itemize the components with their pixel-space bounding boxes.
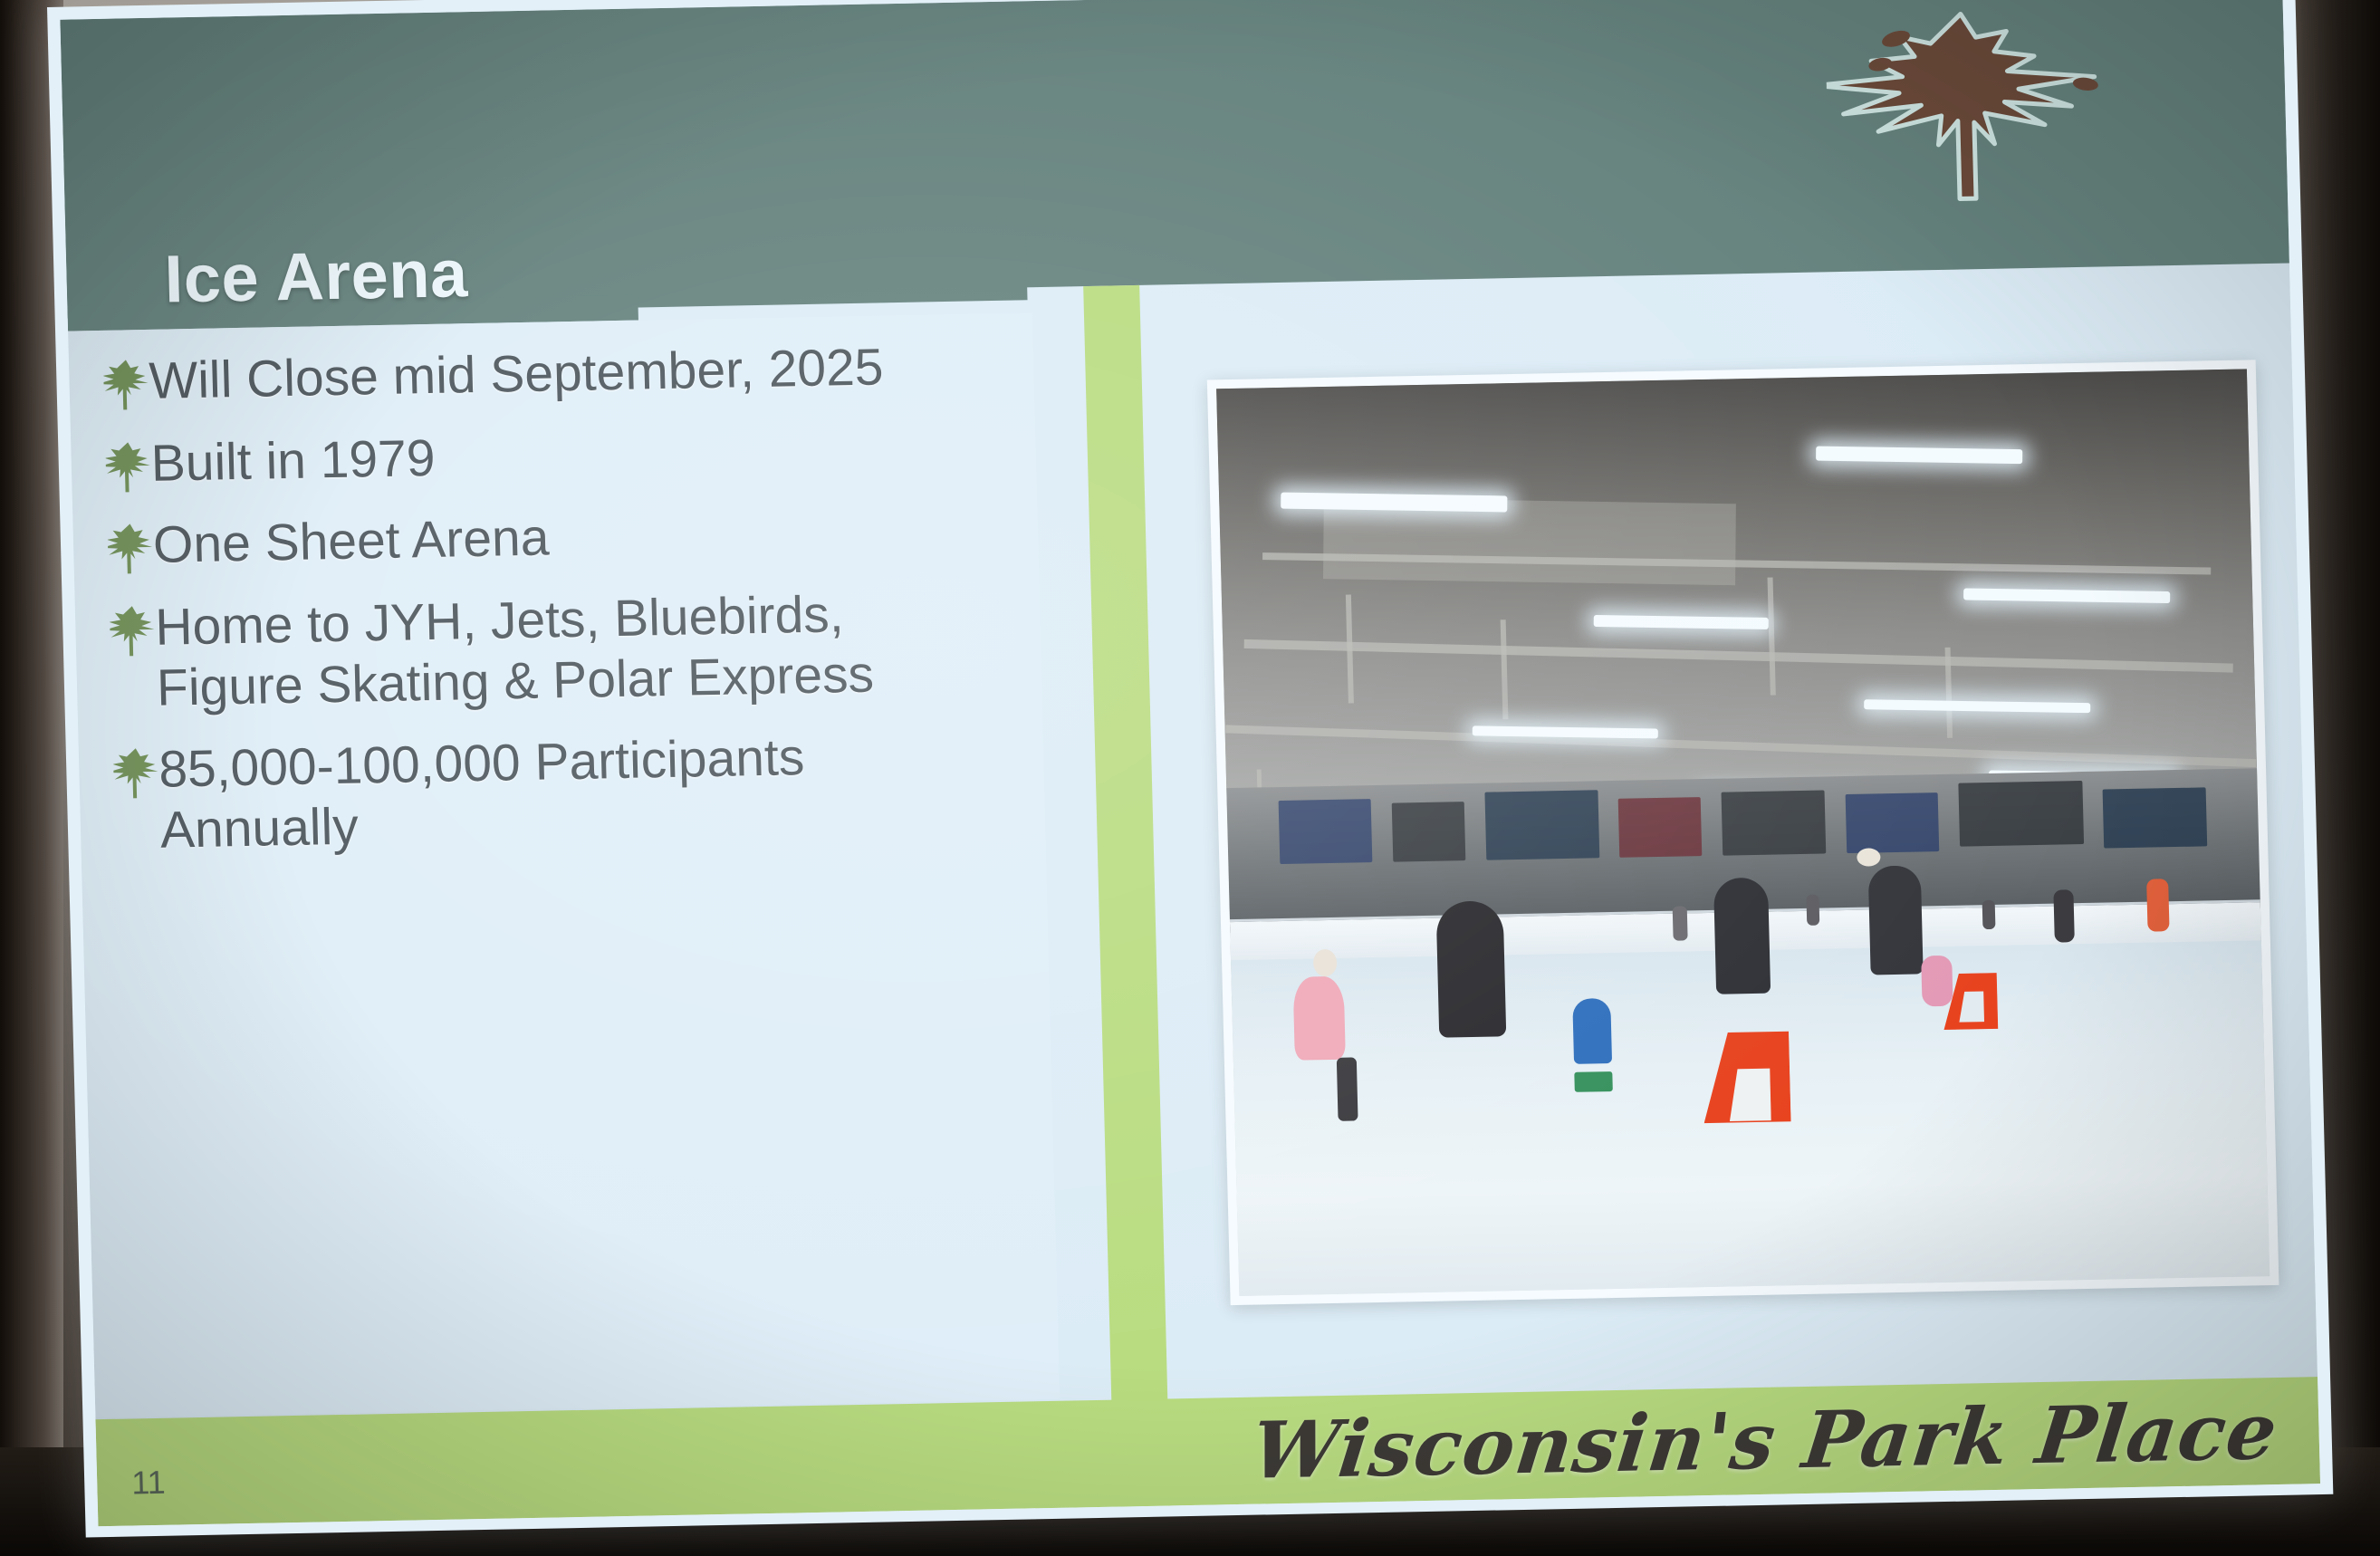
page-title: Ice Arena: [164, 235, 469, 317]
slide-number: 11: [131, 1464, 166, 1503]
list-item: Home to JYH, Jets, Bluebirds, Figure Ska…: [110, 581, 1003, 719]
list-item: Will Close mid September, 2025: [103, 335, 995, 413]
arena-ceiling: [1216, 369, 2257, 806]
list-item-label: Home to JYH, Jets, Bluebirds, Figure Ska…: [155, 581, 1003, 718]
pine-tree-bullet-icon: [110, 603, 156, 657]
list-item-label: Built in 1979: [150, 428, 436, 495]
ice-arena-photo-content: [1216, 369, 2270, 1296]
pine-tree-logo-icon: [1825, 0, 2129, 214]
list-item: One Sheet Arena: [107, 499, 999, 577]
list-item-label: One Sheet Arena: [152, 508, 550, 576]
green-divider-stripe: [1083, 285, 1170, 1507]
pine-tree-bullet-icon: [103, 357, 149, 410]
pine-tree-bullet-icon: [105, 439, 151, 493]
bullet-list: Will Close mid September, 2025 Built in …: [103, 335, 1007, 883]
bullet-list-panel: Will Close mid September, 2025 Built in …: [68, 312, 1060, 1417]
list-item-label: 85,000-100,000 Participants Annually: [158, 724, 1006, 860]
slide-border: Ice Arena Will Close mid September, 2025: [47, 0, 2333, 1537]
list-item: Built in 1979: [105, 418, 997, 495]
pine-tree-bullet-icon: [107, 521, 153, 574]
ice-arena-photo: [1207, 360, 2279, 1305]
list-item: 85,000-100,000 Participants Annually: [113, 724, 1006, 861]
pine-tree-bullet-icon: [113, 745, 159, 799]
tagline: Wisconsin's Park Place: [1247, 1386, 2282, 1497]
list-item-label: Will Close mid September, 2025: [149, 337, 885, 411]
projected-slide: Ice Arena Will Close mid September, 2025: [47, 0, 2333, 1537]
slide-canvas: Ice Arena Will Close mid September, 2025: [60, 0, 2320, 1526]
